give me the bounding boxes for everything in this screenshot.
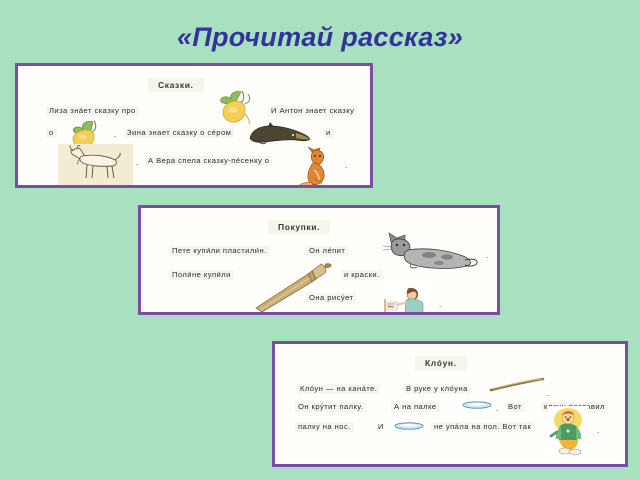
story-text: В руке у клóуна xyxy=(403,384,471,394)
story-punctuation: . xyxy=(345,161,347,170)
card-heading-pokupki: Покупки. xyxy=(268,220,330,234)
plate-icon xyxy=(393,420,425,432)
story-text: Вот xyxy=(505,402,525,412)
story-card-body: Сказки. Лиза знáет сказку про И Антон зн… xyxy=(18,66,370,185)
story-card-kloun: Клóун. Клóун — на канáте. В руке у клóун… xyxy=(272,341,628,467)
fox-icon xyxy=(294,146,340,188)
cat-icon xyxy=(381,230,481,272)
plate-icon xyxy=(461,399,493,411)
card-heading-kloun: Клóун. xyxy=(415,356,467,370)
story-punctuation: . xyxy=(496,404,498,413)
story-text: И Антон знает сказку xyxy=(268,106,357,116)
story-card-skazki: Сказки. Лиза знáет сказку про И Антон зн… xyxy=(15,63,373,188)
story-punctuation: . xyxy=(597,426,599,435)
story-text: Пете купи́ли пластили́н. xyxy=(169,246,270,256)
story-text: о xyxy=(46,128,57,138)
wolf-icon xyxy=(246,120,312,148)
goat-icon xyxy=(58,144,133,186)
story-punctuation: . xyxy=(439,300,441,309)
story-punctuation: . xyxy=(547,389,549,398)
story-punctuation: . xyxy=(486,251,488,260)
story-text: И xyxy=(375,422,387,432)
story-text: А Вера спела сказку-пéсенку о xyxy=(145,156,272,166)
clown-icon xyxy=(547,406,589,458)
girl-painting-icon xyxy=(381,282,433,315)
story-card-body: Клóун. Клóун — на канáте. В руке у клóун… xyxy=(275,344,625,464)
story-text: Зина знает сказку о сéром xyxy=(124,128,234,138)
story-punctuation: . xyxy=(114,130,116,139)
story-text: и xyxy=(323,128,334,138)
story-card-body: Покупки. Пете купи́ли пластили́н. Он лéп… xyxy=(141,208,497,312)
card-heading-skazki: Сказки. xyxy=(148,78,204,92)
story-punctuation: . xyxy=(136,158,138,167)
page-title: «Прочитай рассказ» xyxy=(0,22,640,53)
story-text: Поли́не купи́ли xyxy=(169,270,234,280)
story-text: Клóун — на канáте. xyxy=(297,384,380,394)
story-text: Она рисýет xyxy=(306,293,356,303)
story-text: не упáла на пол. Вот так xyxy=(431,422,534,432)
paintbrush-icon xyxy=(246,260,336,312)
story-text: Он крýтит палку. xyxy=(295,402,366,412)
story-text: Он лéпит xyxy=(306,246,348,256)
story-text: Лиза знáет сказку про xyxy=(46,106,139,116)
story-text: А на палке xyxy=(391,402,440,412)
story-text: палку на нос. xyxy=(295,422,354,432)
story-card-pokupki: Покупки. Пете купи́ли пластили́н. Он лéп… xyxy=(138,205,500,315)
story-text: и краски. xyxy=(341,270,383,280)
stick-icon xyxy=(489,377,547,393)
